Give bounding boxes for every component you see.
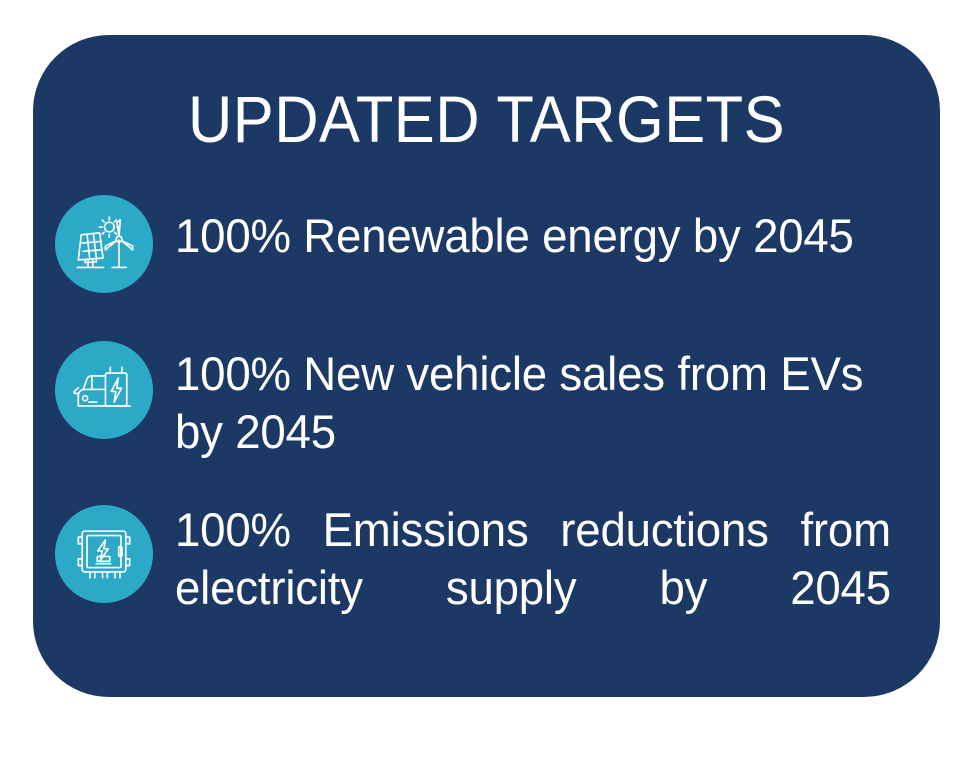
- electrical-panel-icon: [55, 505, 153, 603]
- infographic-root: UPDATED TARGETS: [0, 0, 966, 770]
- solar-wind-renewable-energy-icon: [55, 195, 153, 293]
- target-row: 100% Renewable energy by 2045: [33, 195, 940, 295]
- target-text: 100% Emissions reductions from electrici…: [175, 501, 917, 675]
- updated-targets-card: UPDATED TARGETS: [33, 35, 940, 697]
- page-title: UPDATED TARGETS: [65, 83, 909, 155]
- targets-list: 100% Renewable energy by 2045: [33, 195, 940, 675]
- target-text: 100% Renewable energy by 2045: [175, 207, 917, 265]
- target-row: 100% New vehicle sales from EVs by 2045: [33, 341, 940, 461]
- target-row: 100% Emissions reductions from electrici…: [33, 505, 940, 675]
- target-text: 100% New vehicle sales from EVs by 2045: [175, 345, 917, 461]
- ev-charging-station-icon: [55, 341, 153, 439]
